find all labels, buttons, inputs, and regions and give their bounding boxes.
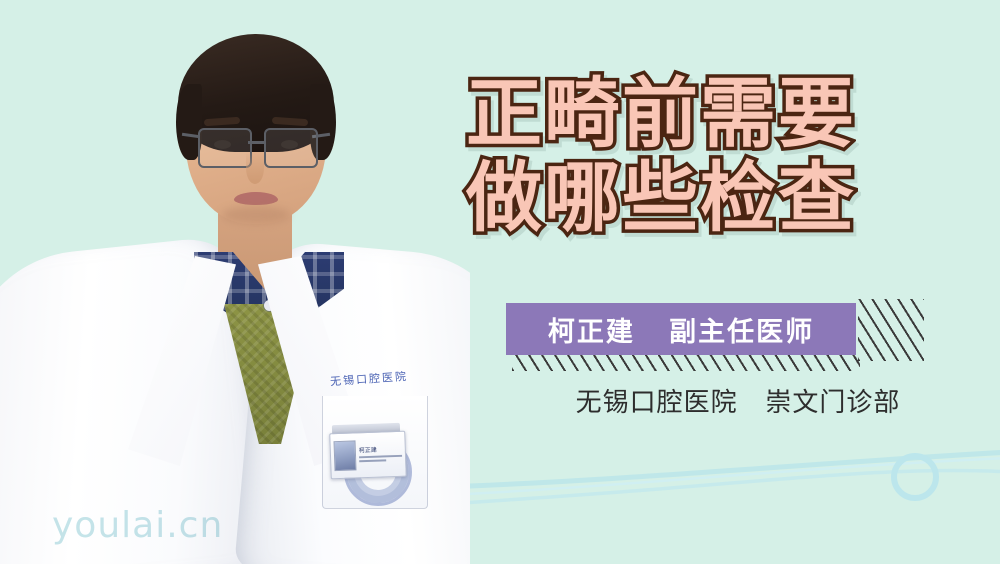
hatch-pattern-right (858, 299, 924, 361)
badge-text-lines: 柯正建 (359, 447, 402, 462)
glasses-bridge (248, 141, 264, 144)
headline-block: 正畸前需要 做哪些检查 (466, 72, 996, 240)
speaker-banner: 柯正建 副主任医师 (506, 303, 976, 355)
glasses-lens-right (264, 128, 318, 168)
nose (246, 152, 264, 184)
speaker-name-and-title: 柯正建 副主任医师 (548, 310, 814, 349)
doctor-portrait: 无锡口腔医院 柯正建 (0, 0, 470, 564)
hatch-pattern-bottom (512, 355, 860, 371)
organization-line: 无锡口腔医院 崇文门诊部 (462, 382, 1000, 419)
chin-shadow (222, 206, 290, 224)
badge-photo (333, 440, 356, 471)
mouth (234, 192, 278, 205)
badge-line-1 (359, 455, 402, 458)
badge-line-2 (359, 459, 386, 462)
headline-line-2: 做哪些检查 (466, 156, 996, 240)
speaker-banner-bar: 柯正建 副主任医师 (506, 303, 856, 355)
video-thumbnail-canvas: 无锡口腔医院 柯正建 正畸前需要 做哪些检查 柯正建 副主任医师 无锡口腔医院 (0, 0, 1000, 564)
headline-line-1: 正畸前需要 (466, 72, 996, 156)
id-badge: 柯正建 (329, 431, 407, 480)
text-content-area: 正畸前需要 做哪些检查 柯正建 副主任医师 无锡口腔医院 崇文门诊部 (462, 0, 1000, 564)
badge-name-text: 柯正建 (359, 447, 402, 454)
glasses-lens-left (198, 128, 252, 168)
